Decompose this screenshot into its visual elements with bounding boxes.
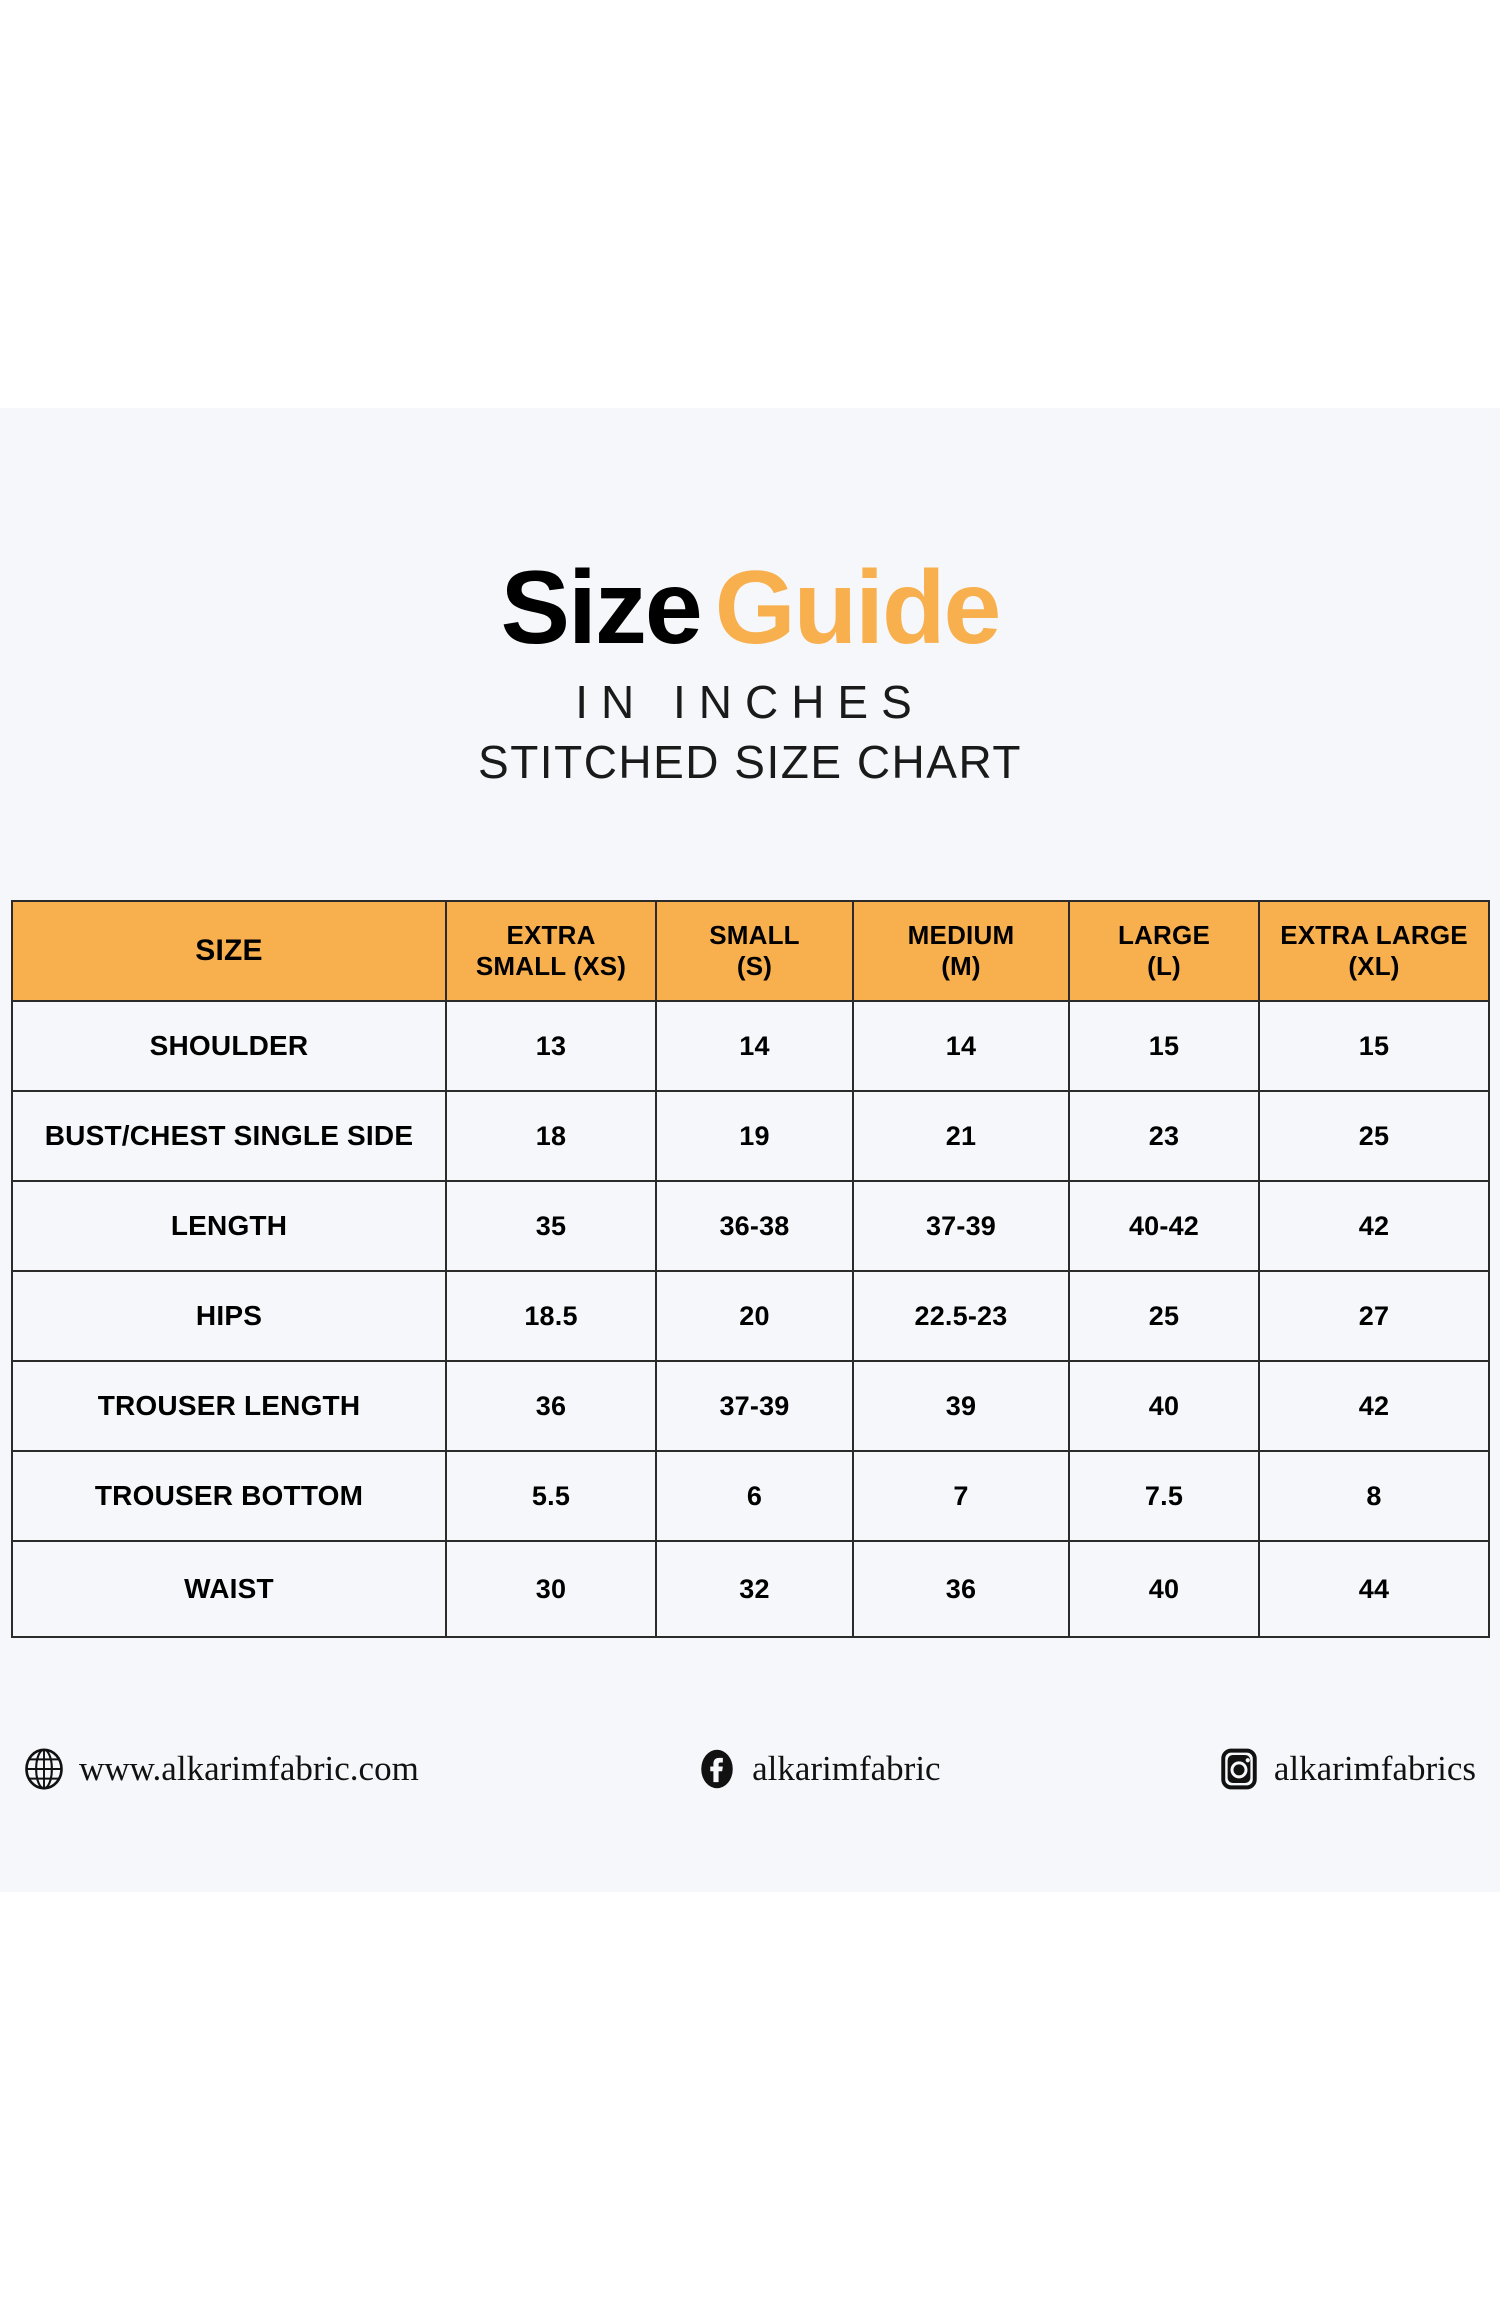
header-label-l-line2: (L) (1147, 951, 1181, 981)
header-label-m-line2: (M) (941, 951, 981, 981)
header-label-s-line1: SMALL (709, 920, 800, 950)
cell-trouser-length-l: 40 (1069, 1361, 1259, 1451)
page-title: SizeGuide (0, 556, 1500, 660)
header-cell-s: SMALL (S) (656, 901, 853, 1001)
cell-trouser-bottom-xl: 8 (1259, 1451, 1489, 1541)
cell-trouser-length-xl: 42 (1259, 1361, 1489, 1451)
table-row: LENGTH 35 36-38 37-39 40-42 42 (12, 1181, 1489, 1271)
subtitle-units: IN INCHES (0, 678, 1500, 726)
cell-shoulder-l: 15 (1069, 1001, 1259, 1091)
header-label-s-line2: (S) (737, 951, 772, 981)
table-row: SHOULDER 13 14 14 15 15 (12, 1001, 1489, 1091)
cell-length-l: 40-42 (1069, 1181, 1259, 1271)
footer-facebook-text: alkarimfabric (752, 1749, 941, 1789)
table-header: SIZE EXTRA SMALL (XS) SMALL (S) MEDIUM (… (12, 901, 1489, 1001)
cell-waist-m: 36 (853, 1541, 1069, 1637)
cell-bust-m: 21 (853, 1091, 1069, 1181)
cell-trouser-length-s: 37-39 (656, 1361, 853, 1451)
cell-trouser-length-m: 39 (853, 1361, 1069, 1451)
cell-trouser-bottom-m: 7 (853, 1451, 1069, 1541)
row-label-hips: HIPS (12, 1271, 446, 1361)
header-label-m-line1: MEDIUM (908, 920, 1015, 950)
cell-bust-s: 19 (656, 1091, 853, 1181)
row-label-bust-chest: BUST/CHEST SINGLE SIDE (12, 1091, 446, 1181)
cell-shoulder-m: 14 (853, 1001, 1069, 1091)
cell-hips-l: 25 (1069, 1271, 1259, 1361)
row-label-length: LENGTH (12, 1181, 446, 1271)
cell-trouser-length-xs: 36 (446, 1361, 656, 1451)
cell-waist-l: 40 (1069, 1541, 1259, 1637)
header-cell-size: SIZE (12, 901, 446, 1001)
row-label-waist: WAIST (12, 1541, 446, 1637)
table-header-row: SIZE EXTRA SMALL (XS) SMALL (S) MEDIUM (… (12, 901, 1489, 1001)
header-cell-xs: EXTRA SMALL (XS) (446, 901, 656, 1001)
footer-contact-bar: www.alkarimfabric.com alkarimfabric alka… (11, 1748, 1488, 1790)
cell-bust-l: 23 (1069, 1091, 1259, 1181)
cell-shoulder-xl: 15 (1259, 1001, 1489, 1091)
header-label-xl-line1: EXTRA LARGE (1280, 920, 1468, 950)
table-row: WAIST 30 32 36 40 44 (12, 1541, 1489, 1637)
cell-waist-xs: 30 (446, 1541, 656, 1637)
title-word-size: Size (501, 550, 701, 666)
footer-instagram[interactable]: alkarimfabrics (1218, 1748, 1476, 1790)
table-row: HIPS 18.5 20 22.5-23 25 27 (12, 1271, 1489, 1361)
cell-trouser-bottom-s: 6 (656, 1451, 853, 1541)
header-label-xs-line1: EXTRA (506, 920, 595, 950)
heading-block: SizeGuide IN INCHES STITCHED SIZE CHART (0, 408, 1500, 787)
cell-length-m: 37-39 (853, 1181, 1069, 1271)
cell-bust-xl: 25 (1259, 1091, 1489, 1181)
table-body: SHOULDER 13 14 14 15 15 BUST/CHEST SINGL… (12, 1001, 1489, 1637)
row-label-trouser-bottom: TROUSER BOTTOM (12, 1451, 446, 1541)
header-cell-xl: EXTRA LARGE (XL) (1259, 901, 1489, 1001)
row-label-shoulder: SHOULDER (12, 1001, 446, 1091)
header-cell-l: LARGE (L) (1069, 901, 1259, 1001)
footer-website[interactable]: www.alkarimfabric.com (23, 1748, 419, 1790)
cell-shoulder-xs: 13 (446, 1001, 656, 1091)
header-label-l-line1: LARGE (1118, 920, 1210, 950)
cell-length-xl: 42 (1259, 1181, 1489, 1271)
cell-trouser-bottom-l: 7.5 (1069, 1451, 1259, 1541)
table-row: TROUSER BOTTOM 5.5 6 7 7.5 8 (12, 1451, 1489, 1541)
header-label-size: SIZE (195, 934, 262, 967)
header-label-xs-line2: SMALL (XS) (476, 951, 626, 981)
facebook-icon (696, 1748, 738, 1790)
cell-waist-s: 32 (656, 1541, 853, 1637)
globe-icon (23, 1748, 65, 1790)
cell-length-s: 36-38 (656, 1181, 853, 1271)
footer-facebook[interactable]: alkarimfabric (696, 1748, 941, 1790)
footer-website-text: www.alkarimfabric.com (79, 1749, 419, 1789)
cell-length-xs: 35 (446, 1181, 656, 1271)
header-label-xl-line2: (XL) (1348, 951, 1399, 981)
footer-instagram-text: alkarimfabrics (1274, 1749, 1476, 1789)
subtitle-chart: STITCHED SIZE CHART (0, 738, 1500, 786)
row-label-trouser-length: TROUSER LENGTH (12, 1361, 446, 1451)
instagram-icon (1218, 1748, 1260, 1790)
cell-shoulder-s: 14 (656, 1001, 853, 1091)
size-chart-table: SIZE EXTRA SMALL (XS) SMALL (S) MEDIUM (… (11, 900, 1490, 1638)
cell-hips-xs: 18.5 (446, 1271, 656, 1361)
size-guide-card: SizeGuide IN INCHES STITCHED SIZE CHART … (0, 408, 1500, 1892)
table-row: TROUSER LENGTH 36 37-39 39 40 42 (12, 1361, 1489, 1451)
header-cell-m: MEDIUM (M) (853, 901, 1069, 1001)
table-row: BUST/CHEST SINGLE SIDE 18 19 21 23 25 (12, 1091, 1489, 1181)
cell-bust-xs: 18 (446, 1091, 656, 1181)
cell-hips-s: 20 (656, 1271, 853, 1361)
cell-hips-m: 22.5-23 (853, 1271, 1069, 1361)
cell-hips-xl: 27 (1259, 1271, 1489, 1361)
title-word-guide: Guide (715, 550, 1000, 666)
cell-trouser-bottom-xs: 5.5 (446, 1451, 656, 1541)
cell-waist-xl: 44 (1259, 1541, 1489, 1637)
